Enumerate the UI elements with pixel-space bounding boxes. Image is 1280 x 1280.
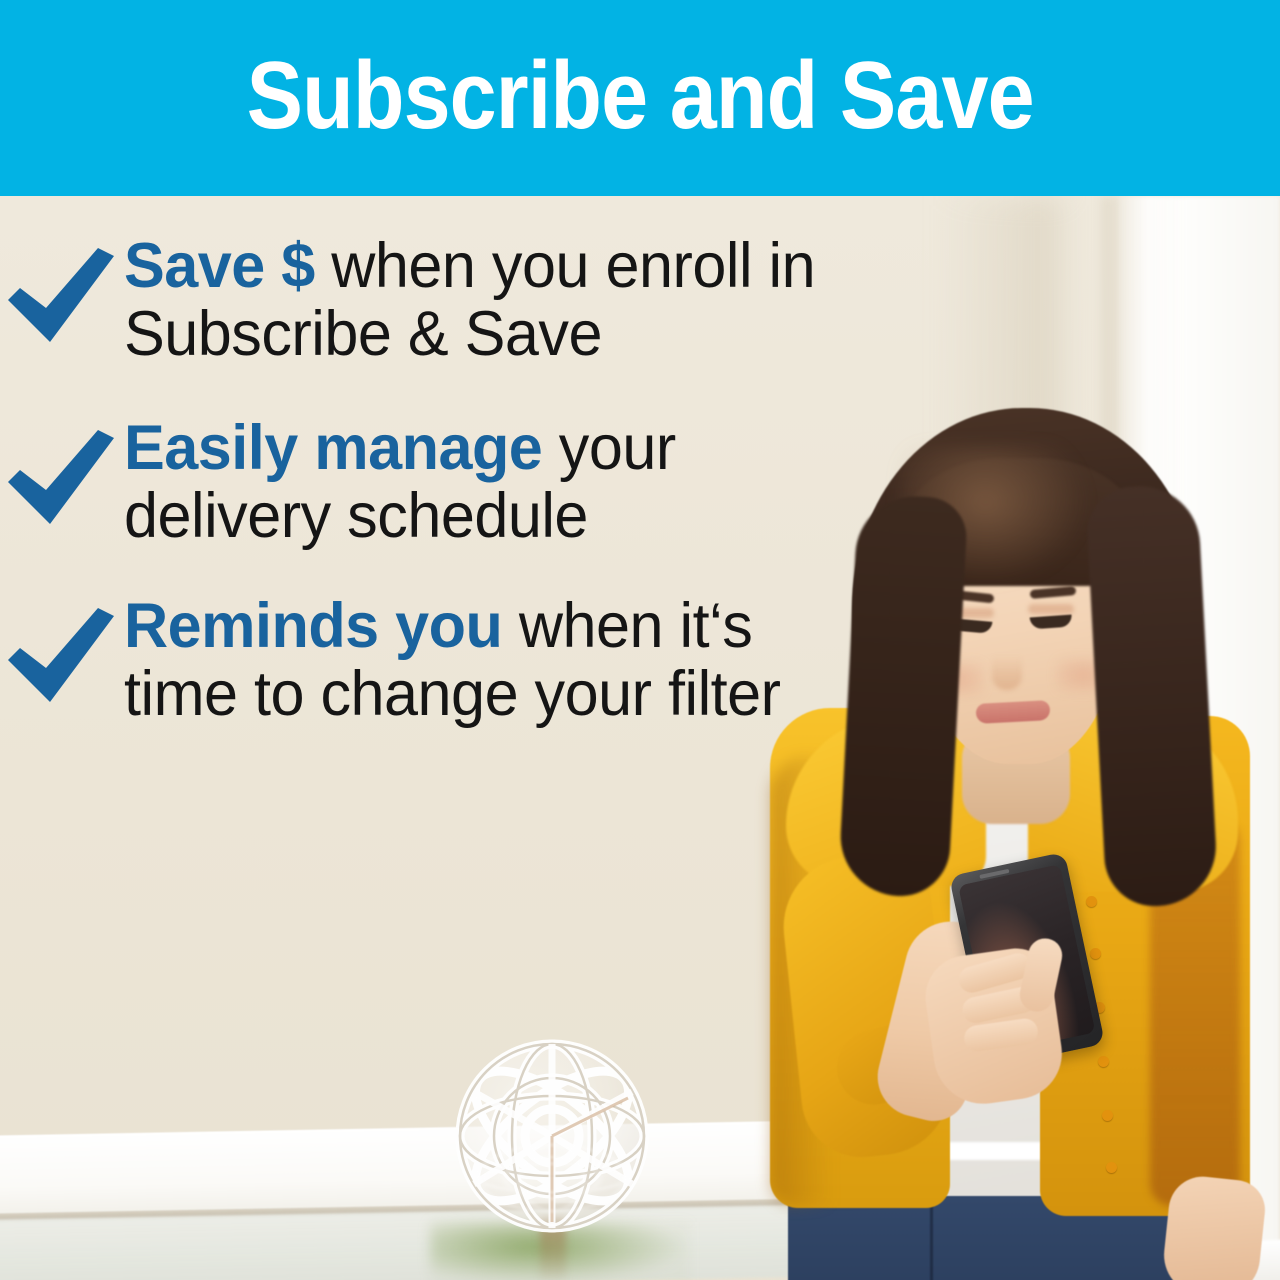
- mouth: [976, 700, 1051, 724]
- benefit-item-manage: Easily manage your delivery schedule: [0, 414, 860, 550]
- checkmark-icon: [0, 592, 124, 706]
- cardigan-button: [1086, 896, 1097, 907]
- cardigan-button: [1106, 1162, 1117, 1173]
- cardigan-button: [1102, 1110, 1113, 1121]
- benefit-text: Save $ when you enroll in Subscribe & Sa…: [124, 232, 838, 368]
- nose: [992, 632, 1022, 690]
- cardigan-button: [1098, 1056, 1109, 1067]
- benefit-highlight: Easily manage: [124, 413, 542, 483]
- hair-lock-right: [1085, 483, 1219, 908]
- benefit-item-save: Save $ when you enroll in Subscribe & Sa…: [0, 232, 860, 368]
- checkmark-icon: [0, 414, 124, 528]
- benefit-text: Easily manage your delivery schedule: [124, 414, 838, 550]
- resting-hand: [1160, 1173, 1268, 1280]
- benefit-text: Reminds you when it‘s time to change you…: [124, 592, 838, 728]
- cardigan-button: [1090, 948, 1101, 959]
- benefit-item-reminds: Reminds you when it‘s time to change you…: [0, 592, 860, 728]
- checkmark-icon: [0, 232, 124, 346]
- header-banner: Subscribe and Save: [0, 0, 1280, 196]
- page-title: Subscribe and Save: [246, 48, 1033, 144]
- benefit-highlight: Reminds you: [124, 591, 502, 661]
- subscribe-and-save-poster: Subscribe and Save Save $ when you enrol…: [0, 0, 1280, 1280]
- eyelid-right: [1028, 604, 1074, 614]
- benefit-highlight: Save $: [124, 231, 315, 301]
- benefits-list: Save $ when you enroll in Subscribe & Sa…: [0, 196, 860, 762]
